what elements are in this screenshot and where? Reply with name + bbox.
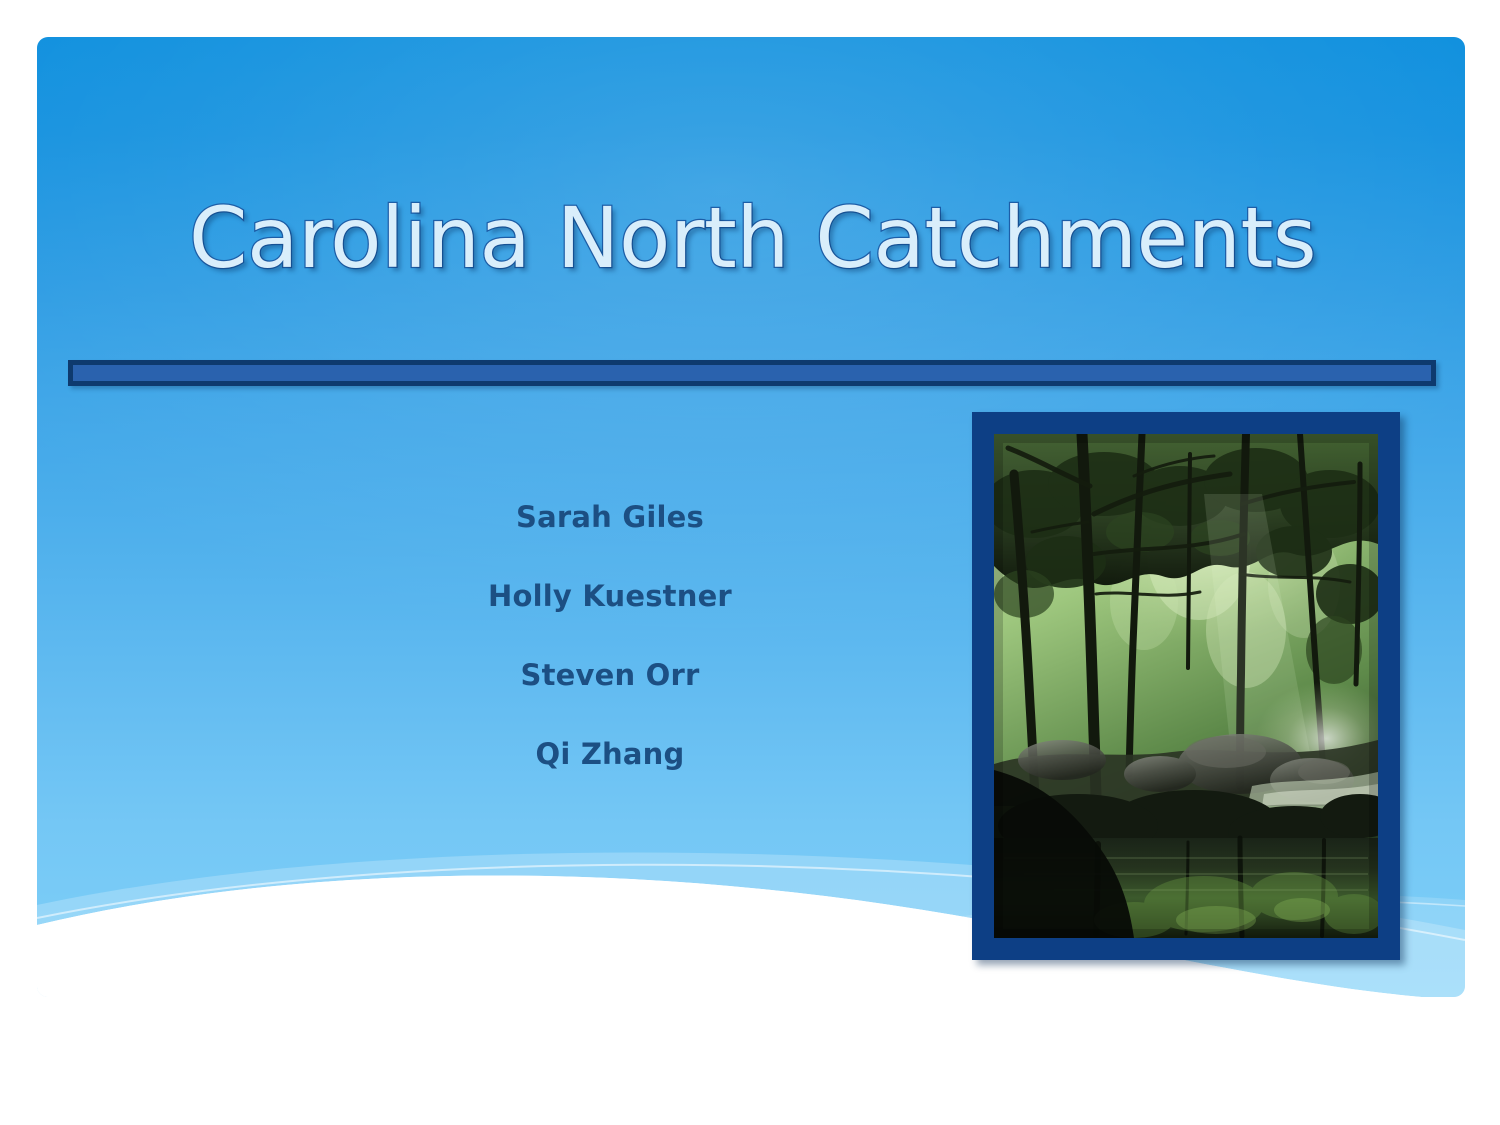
forest-stream-photo — [994, 434, 1378, 938]
slide-title-container: Carolina North Catchments — [60, 196, 1445, 282]
title-divider-bar — [68, 360, 1436, 386]
author-name: Qi Zhang — [300, 737, 920, 771]
author-name: Holly Kuestner — [300, 579, 920, 613]
author-name: Steven Orr — [300, 658, 920, 692]
presentation-slide: Carolina North Catchments Sarah Giles Ho… — [0, 0, 1500, 1125]
author-list: Sarah Giles Holly Kuestner Steven Orr Qi… — [300, 500, 920, 771]
slide-title: Carolina North Catchments — [60, 196, 1445, 282]
photo-frame — [972, 412, 1400, 960]
author-name: Sarah Giles — [300, 500, 920, 534]
